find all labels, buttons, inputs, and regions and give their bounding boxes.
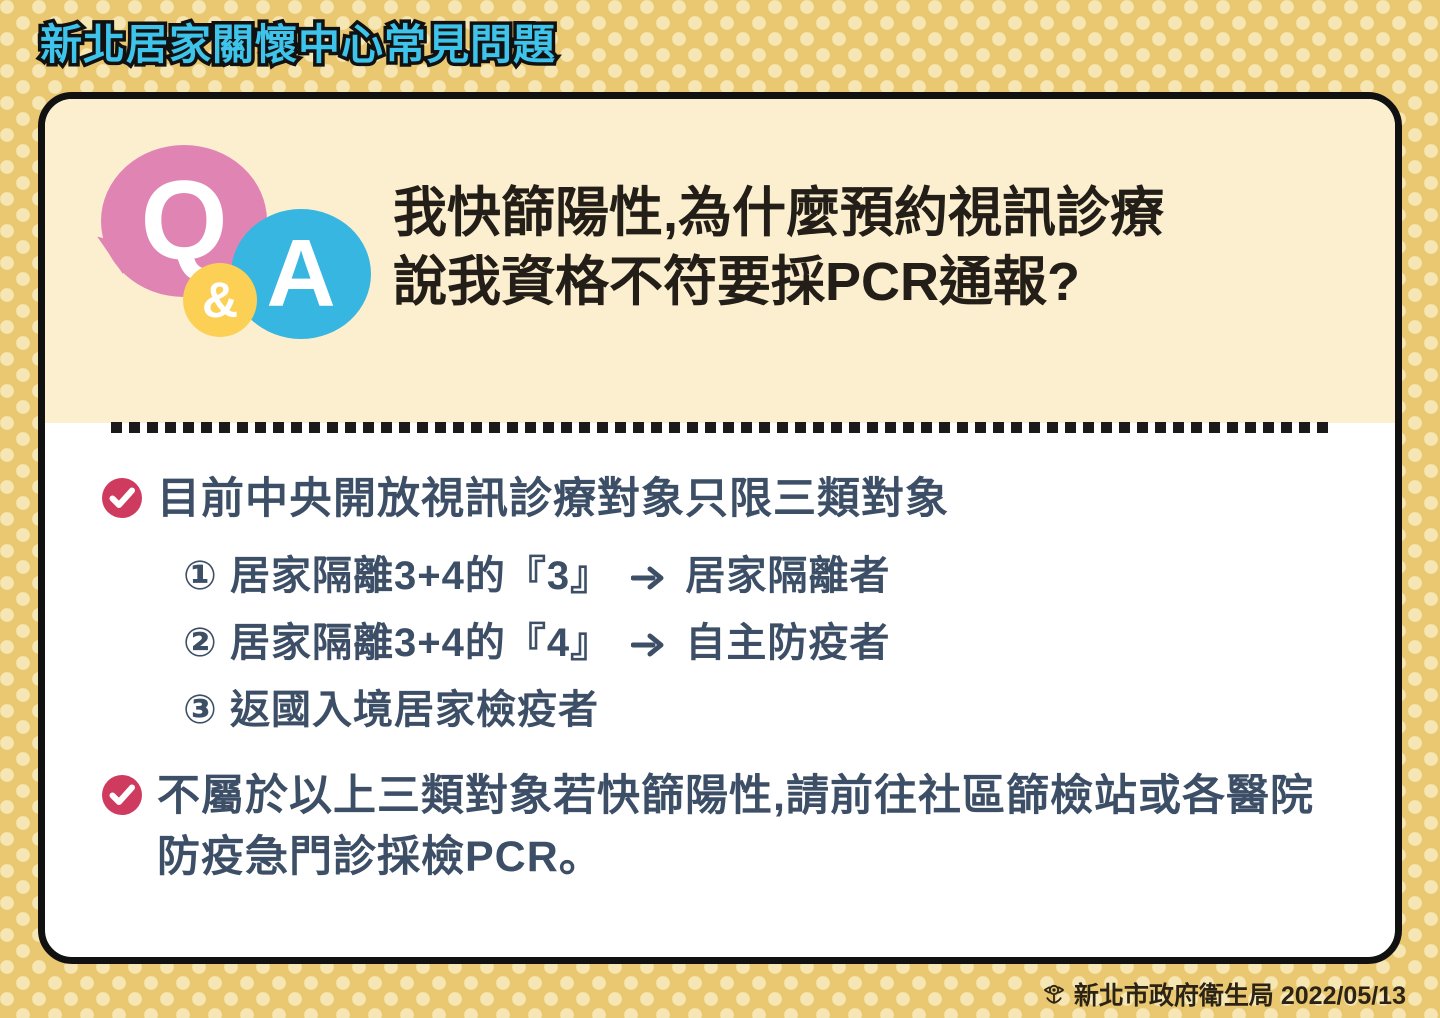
- list-item: ③ 返國入境居家檢疫者: [183, 678, 1339, 743]
- list-item: ① 居家隔離3+4的『3』 居家隔離者: [183, 544, 1339, 611]
- faq-card: Q A & 我快篩陽性,為什麼預約視訊診療 說我資格不符要採PCR通報? 目前中…: [38, 92, 1402, 964]
- eligible-groups-list: ① 居家隔離3+4的『3』 居家隔離者 ② 居家隔離3+4的『4』 自主防疫者: [183, 544, 1339, 742]
- page-title: 新北居家關懷中心常見問題: [40, 24, 556, 66]
- list-item: ② 居家隔離3+4的『4』 自主防疫者: [183, 611, 1339, 678]
- list-item-marker: ②: [183, 621, 218, 665]
- footer-text: 新北市政府衛生局 2022/05/13: [1074, 976, 1406, 1012]
- qa-logo: Q A &: [79, 137, 379, 347]
- list-item-label: 居家隔離3+4的『4』: [230, 621, 611, 665]
- arrow-right-icon: [631, 546, 665, 611]
- answer-section: 目前中央開放視訊診療對象只限三類對象 ① 居家隔離3+4的『3』 居家隔離者 ②…: [45, 423, 1395, 889]
- list-item-marker: ①: [183, 554, 218, 598]
- a-letter: A: [231, 209, 371, 339]
- answer-bullet-1: 目前中央開放視訊診療對象只限三類對象: [101, 469, 1339, 530]
- page-header: 新北居家關懷中心常見問題: [40, 16, 556, 74]
- list-item-label: 返國入境居家檢疫者: [230, 688, 599, 732]
- answer-bullet-2: 不屬於以上三類對象若快篩陽性,請前往社區篩檢站或各醫院防疫急門診採檢PCR。: [101, 766, 1339, 888]
- list-item-target: 自主防疫者: [685, 621, 890, 665]
- answer-bullet-1-text: 目前中央開放視訊診療對象只限三類對象: [157, 469, 949, 530]
- dotted-divider: [111, 421, 1329, 433]
- question-text: 我快篩陽性,為什麼預約視訊診療 說我資格不符要採PCR通報?: [393, 179, 1164, 317]
- list-item-marker: ③: [183, 688, 218, 732]
- check-circle-icon: [101, 774, 143, 816]
- answer-bullet-2-text: 不屬於以上三類對象若快篩陽性,請前往社區篩檢站或各醫院防疫急門診採檢PCR。: [157, 766, 1337, 888]
- arrow-right-icon: [631, 613, 665, 678]
- health-bureau-logo-icon: [1040, 980, 1068, 1008]
- list-item-target: 居家隔離者: [685, 554, 890, 598]
- list-item-label: 居家隔離3+4的『3』: [230, 554, 611, 598]
- check-circle-icon: [101, 477, 143, 519]
- question-section: Q A & 我快篩陽性,為什麼預約視訊診療 說我資格不符要採PCR通報?: [45, 99, 1395, 423]
- answer-bullet-2-line-1: 不屬於以上三類對象若快篩陽性,請前往社區篩: [157, 772, 1050, 820]
- ampersand-circle-icon: &: [183, 263, 257, 337]
- question-line-2: 說我資格不符要採PCR通報?: [393, 248, 1164, 317]
- footer: 新北市政府衛生局 2022/05/13: [1040, 976, 1406, 1012]
- question-line-1: 我快篩陽性,為什麼預約視訊診療: [393, 179, 1164, 248]
